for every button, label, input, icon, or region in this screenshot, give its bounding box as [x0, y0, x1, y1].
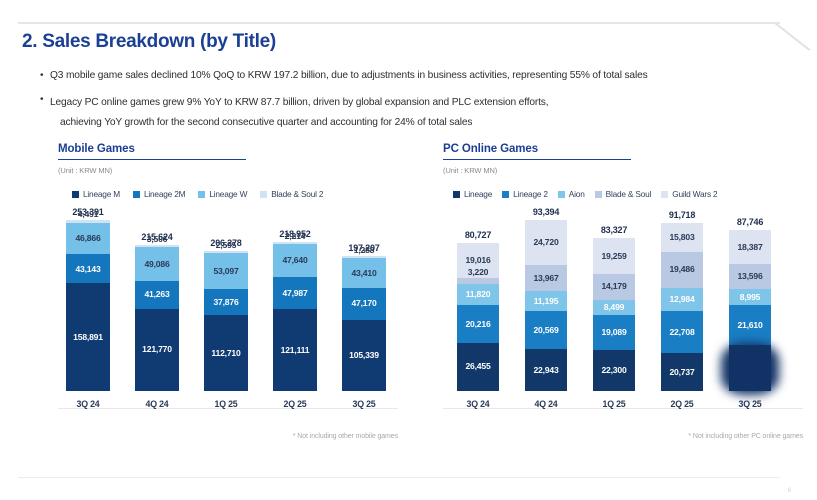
legend-swatch-icon — [198, 191, 205, 198]
bar-segment[interactable]: 47,640 — [273, 244, 317, 276]
bar-segment[interactable]: 47,170 — [342, 288, 386, 320]
legend-label: Lineage W — [209, 189, 247, 199]
bar-segment[interactable] — [729, 345, 771, 391]
bar-segment-label: 11,195 — [534, 297, 559, 306]
bar-column[interactable]: 87,74618,38713,5968,99521,610 — [729, 230, 771, 391]
bullet-text-2: Legacy PC online games grew 9% YoY to KR… — [50, 97, 548, 108]
legend-swatch-icon — [72, 191, 79, 198]
bar-total-label: 91,718 — [669, 210, 695, 220]
bar-segment-label: 121,770 — [142, 345, 172, 354]
bar-segment-label: 2,214 — [285, 232, 306, 241]
bar-segment[interactable]: 21,610 — [729, 305, 771, 345]
bar-column[interactable]: 80,72719,0163,22011,82020,21626,455 — [457, 243, 499, 391]
bar-column[interactable]: 93,39424,72013,96711,19520,56922,943 — [525, 220, 567, 391]
legend-label: Lineage 2 — [513, 189, 548, 199]
bar-segment[interactable]: 12,984 — [661, 288, 703, 312]
bar-segment-label: 13,596 — [737, 272, 762, 281]
bar-segment-label: 11,820 — [466, 290, 491, 299]
bar-segment-label: 22,708 — [669, 328, 694, 337]
bar-segment-label: 112,710 — [211, 349, 240, 358]
mobile-games-title: Mobile Games — [58, 143, 398, 159]
bar-segment[interactable]: 121,111 — [273, 309, 317, 391]
legend-swatch-icon — [453, 191, 460, 198]
bar-segment[interactable]: 22,943 — [525, 349, 567, 391]
mobile-legend-item: Lineage 2M — [133, 189, 185, 199]
bar-segment-label: 121,111 — [281, 346, 310, 355]
bar-segment[interactable]: 11,195 — [525, 291, 567, 312]
legend-swatch-icon — [558, 191, 565, 198]
page-number: 6 — [788, 488, 791, 494]
bar-segment-label: 19,089 — [601, 328, 626, 337]
bar-segment-label: 47,987 — [282, 289, 307, 298]
slide-canvas: 2. Sales Breakdown (by Title) • Q3 mobil… — [0, 0, 817, 500]
bar-segment[interactable]: 8,995 — [729, 289, 771, 305]
pc-legend-item: Guild Wars 2 — [661, 189, 717, 199]
bar-segment[interactable]: 24,720 — [525, 220, 567, 265]
x-axis-label: 3Q 24 — [66, 399, 110, 409]
bar-segment-label: 21,610 — [737, 321, 762, 330]
bar-segment[interactable]: 49,086 — [135, 247, 179, 280]
bar-total-label: 83,327 — [601, 225, 627, 235]
bar-segment[interactable]: 158,891 — [66, 283, 110, 391]
legend-label: Guild Wars 2 — [672, 189, 717, 199]
bar-segment-label: 46,866 — [75, 234, 100, 243]
bar-segment-label: 20,737 — [669, 368, 694, 377]
mobile-title-underline — [58, 159, 246, 160]
legend-label: Blade & Soul 2 — [271, 189, 323, 199]
bar-segment[interactable]: 43,410 — [342, 258, 386, 287]
pc-unit-label: (Unit : KRW MN) — [443, 166, 803, 175]
legend-label: Aion — [569, 189, 585, 199]
bar-segment-label: 14,179 — [601, 282, 626, 291]
pc-plot: 80,72719,0163,22011,82020,21626,4553Q 24… — [443, 215, 803, 409]
bar-segment-label: 12,984 — [669, 295, 694, 304]
bar-segment-label: 49,086 — [144, 260, 169, 269]
bar-column[interactable]: 206,2782,59553,09737,876112,710 — [204, 251, 248, 391]
bar-segment-label: 3,506 — [147, 235, 168, 244]
bar-column[interactable]: 197,2071,28843,41047,170105,339 — [342, 256, 386, 391]
bullet-text-2-continued: achieving YoY growth for the second cons… — [60, 115, 548, 130]
legend-label: Lineage M — [83, 189, 120, 199]
legend-swatch-icon — [133, 191, 140, 198]
bar-segment-label: 19,016 — [465, 256, 490, 265]
bar-segment-label: 4,491 — [78, 210, 99, 219]
bar-segment-label: 15,803 — [669, 233, 694, 242]
legend-swatch-icon — [595, 191, 602, 198]
mobile-legend-item: Blade & Soul 2 — [260, 189, 323, 199]
legend-label: Lineage — [464, 189, 492, 199]
bullet-text-1: Q3 mobile game sales declined 10% QoQ to… — [50, 68, 648, 83]
bar-segment[interactable]: 19,089 — [593, 315, 635, 350]
pc-legend-item: Lineage 2 — [502, 189, 548, 199]
bullet-list: • Q3 mobile game sales declined 10% QoQ … — [40, 68, 790, 139]
bar-segment[interactable]: 26,455 — [457, 343, 499, 392]
bar-segment[interactable]: 20,216 — [457, 305, 499, 342]
page-title: 2. Sales Breakdown (by Title) — [22, 31, 276, 53]
bullet-dot-icon: • — [40, 92, 50, 107]
bar-segment-label: 22,943 — [533, 366, 558, 375]
header-divider — [18, 22, 780, 24]
bar-column[interactable]: 83,32719,25914,1798,49919,08922,300 — [593, 238, 635, 391]
pc-games-title: PC Online Games — [443, 143, 803, 159]
mobile-footnote: * Not including other mobile games — [293, 433, 398, 440]
x-axis-label: 2Q 25 — [661, 399, 703, 409]
bar-segment-label: 47,170 — [351, 299, 376, 308]
pc-legend-item: Lineage — [453, 189, 492, 199]
mobile-legend-item: Lineage W — [198, 189, 247, 199]
bullet-dot-icon: • — [40, 68, 50, 83]
bar-total-label: 80,727 — [465, 230, 491, 240]
bar-segment-label: 20,216 — [465, 320, 490, 329]
bar-segment[interactable]: 105,339 — [342, 320, 386, 391]
bar-segment-label: 24,720 — [533, 238, 558, 247]
bar-segment-label: 8,499 — [604, 303, 625, 312]
pc-legend-item: Aion — [558, 189, 585, 199]
x-axis-label: 3Q 25 — [342, 399, 386, 409]
bar-total-label: 87,746 — [737, 217, 763, 227]
bar-segment[interactable]: 8,499 — [593, 300, 635, 316]
bar-column[interactable]: 253,3914,49146,86643,143158,891 — [66, 220, 110, 392]
bullet-item-1: • Q3 mobile game sales declined 10% QoQ … — [40, 68, 790, 83]
mobile-plot: 253,3914,49146,86643,143158,8913Q 24215,… — [58, 215, 398, 409]
bar-segment[interactable]: 112,710 — [204, 315, 248, 391]
bar-segment[interactable]: 13,967 — [525, 265, 567, 291]
corner-fold-decoration — [767, 22, 817, 50]
bar-column[interactable]: 215,6243,50649,08641,263121,770 — [135, 245, 179, 391]
bar-segment[interactable]: 18,387 — [729, 230, 771, 264]
pc-title-underline — [443, 159, 631, 160]
bar-segment[interactable]: 19,259 — [593, 238, 635, 273]
bar-segment-label: 43,143 — [75, 265, 100, 274]
bar-column[interactable]: 91,71815,80319,48612,98422,70820,737 — [661, 223, 703, 391]
bar-segment-label: 19,486 — [669, 265, 694, 274]
bar-segment[interactable]: 22,708 — [661, 311, 703, 353]
mobile-legend: Lineage MLineage 2MLineage WBlade & Soul… — [72, 189, 398, 199]
bar-segment-label: 18,387 — [737, 243, 762, 252]
bar-segment-label: 20,569 — [533, 326, 558, 335]
bar-segment-label: 158,891 — [73, 333, 103, 342]
pc-legend-item: Blade & Soul — [595, 189, 652, 199]
bar-segment[interactable]: 20,737 — [661, 353, 703, 391]
pc-games-panel: PC Online Games (Unit : KRW MN) LineageL… — [443, 143, 803, 427]
mobile-unit-label: (Unit : KRW MN) — [58, 166, 398, 175]
bar-segment[interactable]: 11,820 — [457, 284, 499, 306]
bar-segment[interactable]: 19,486 — [661, 252, 703, 288]
bar-segment-label: 8,995 — [740, 293, 761, 302]
bar-segment-label: 43,410 — [351, 269, 376, 278]
mobile-legend-item: Lineage M — [72, 189, 120, 199]
mobile-games-panel: Mobile Games (Unit : KRW MN) Lineage MLi… — [58, 143, 398, 427]
x-axis-label: 3Q 25 — [729, 399, 771, 409]
legend-swatch-icon — [661, 191, 668, 198]
pc-footnote: * Not including other PC online games — [688, 433, 803, 440]
bar-segment-label: 37,876 — [213, 298, 238, 307]
bar-segment[interactable]: 53,097 — [204, 253, 248, 289]
mobile-chart: 253,3914,49146,86643,143158,8913Q 24215,… — [58, 215, 398, 427]
bar-segment[interactable]: 13,596 — [729, 264, 771, 289]
bar-segment[interactable]: 47,987 — [273, 277, 317, 309]
legend-swatch-icon — [260, 191, 267, 198]
bar-segment[interactable]: 20,569 — [525, 311, 567, 349]
bar-segment[interactable]: 14,179 — [593, 274, 635, 300]
x-axis-label: 2Q 25 — [273, 399, 317, 409]
bar-segment[interactable]: 43,143 — [66, 254, 110, 283]
pc-legend: LineageLineage 2AionBlade & SoulGuild Wa… — [453, 189, 803, 199]
bar-segment-label: 3,220 — [468, 268, 489, 277]
footer-divider — [18, 477, 780, 478]
bar-segment-label: 105,339 — [349, 351, 379, 360]
x-axis-label: 1Q 25 — [204, 399, 248, 409]
bar-segment-label: 47,640 — [282, 256, 307, 265]
pc-chart: 80,72719,0163,22011,82020,21626,4553Q 24… — [443, 215, 803, 427]
bar-segment-label: 19,259 — [601, 252, 626, 261]
legend-label: Lineage 2M — [144, 189, 185, 199]
bar-segment-label: 13,967 — [533, 274, 558, 283]
x-axis-label: 4Q 24 — [525, 399, 567, 409]
legend-label: Blade & Soul — [606, 189, 652, 199]
bar-segment[interactable]: 121,770 — [135, 309, 179, 391]
bar-segment[interactable]: 22,300 — [593, 350, 635, 391]
legend-swatch-icon — [502, 191, 509, 198]
x-axis-label: 4Q 24 — [135, 399, 179, 409]
bar-segment[interactable]: 37,876 — [204, 289, 248, 315]
bar-segment[interactable]: 41,263 — [135, 281, 179, 309]
bar-segment[interactable]: 46,866 — [66, 223, 110, 255]
bar-segment-label: 41,263 — [144, 290, 169, 299]
bar-segment-label: 1,288 — [354, 246, 375, 255]
bullet-item-2: • Legacy PC online games grew 9% YoY to … — [40, 92, 790, 130]
bar-segment-label: 26,455 — [465, 362, 490, 371]
bar-segment[interactable]: 15,803 — [661, 223, 703, 252]
bar-segment-label: 22,300 — [601, 366, 626, 375]
bar-total-label: 93,394 — [533, 207, 559, 217]
bar-column[interactable]: 218,9522,21447,64047,987121,111 — [273, 242, 317, 391]
bar-segment-label: 2,595 — [216, 241, 237, 250]
bar-segment-label: 53,097 — [213, 267, 238, 276]
x-axis-label: 3Q 24 — [457, 399, 499, 409]
x-axis-label: 1Q 25 — [593, 399, 635, 409]
